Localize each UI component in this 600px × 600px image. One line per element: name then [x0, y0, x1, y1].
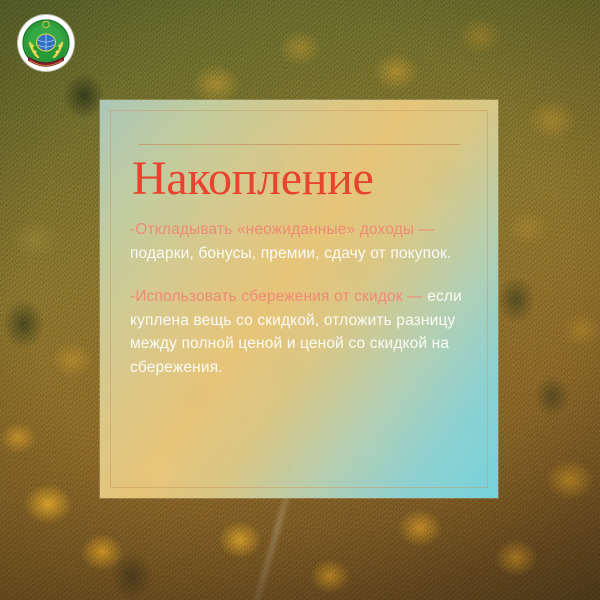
- organization-emblem-logo: [18, 15, 74, 71]
- content-card: Накопление -Откладывать «неожиданные» до…: [100, 100, 498, 498]
- page-title: Накопление: [130, 155, 468, 204]
- title-divider-rule: [138, 144, 460, 145]
- slide-canvas: Накопление -Откладывать «неожиданные» до…: [0, 0, 600, 600]
- bullet-body-text: подарки, бонусы, премии, сдачу от покупо…: [130, 245, 451, 262]
- bullet-list: -Откладывать «неожиданные» доходы — пода…: [130, 218, 468, 379]
- emblem-icon: [18, 15, 74, 71]
- card-content: Накопление -Откладывать «неожиданные» до…: [130, 144, 468, 379]
- bullet-lead-text: -Использовать сбережения от скидок —: [130, 288, 423, 305]
- list-item: -Откладывать «неожиданные» доходы — пода…: [130, 218, 468, 265]
- bullet-paragraph: -Использовать сбережения от скидок — есл…: [130, 285, 468, 379]
- bullet-paragraph: -Откладывать «неожиданные» доходы — пода…: [130, 218, 468, 265]
- bullet-lead-text: -Откладывать «неожиданные» доходы —: [130, 221, 434, 238]
- list-item: -Использовать сбережения от скидок — есл…: [130, 285, 468, 379]
